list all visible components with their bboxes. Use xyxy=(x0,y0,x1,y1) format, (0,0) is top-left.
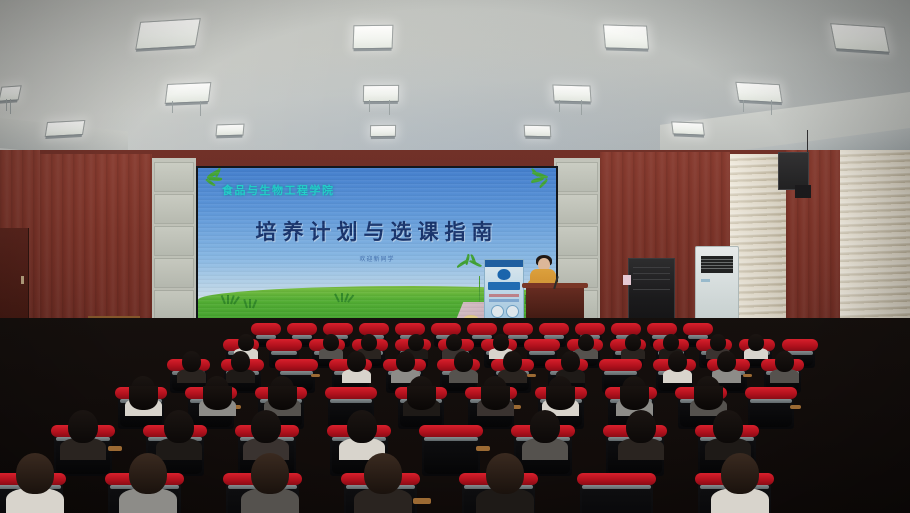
audience-member-head xyxy=(231,351,250,372)
audience-member-head xyxy=(454,351,473,372)
light-suspension-rod xyxy=(172,101,173,113)
audience-member-head xyxy=(361,334,377,351)
ceiling-light-panel xyxy=(524,125,552,137)
ac-vent xyxy=(701,256,733,273)
seat-writing-tablet xyxy=(311,374,320,377)
audience-member-hair xyxy=(546,386,575,410)
audience-member-head xyxy=(748,334,764,351)
banner-header xyxy=(485,260,523,267)
audience-member-head xyxy=(626,410,656,443)
ceiling-light-panel xyxy=(370,125,396,137)
roll-up-banner xyxy=(484,259,524,323)
audience-member-head xyxy=(347,351,366,372)
audience-member-head xyxy=(775,351,794,372)
seat-writing-tablet xyxy=(108,446,122,451)
audience-member-head xyxy=(68,410,98,443)
audience-member-hair xyxy=(620,386,649,410)
audience-member-head xyxy=(408,334,424,351)
audience-member-head xyxy=(251,453,289,494)
audience-member-hair xyxy=(481,386,510,410)
ceiling-light-panel xyxy=(215,124,244,137)
audience-member-hair xyxy=(203,386,232,410)
wall-speaker-mount xyxy=(795,185,811,198)
ac-display xyxy=(701,279,710,282)
light-suspension-rod xyxy=(6,99,7,111)
banner-logo-icon xyxy=(498,269,511,280)
seat-writing-tablet xyxy=(476,446,490,451)
ceiling-light-panel xyxy=(603,24,649,49)
side-door[interactable] xyxy=(0,228,29,326)
ceiling-light-panel xyxy=(45,120,86,137)
audience-seating xyxy=(0,318,910,513)
ceiling-light-panel xyxy=(353,25,394,49)
audience-member-hair xyxy=(407,386,436,410)
audience-member-head xyxy=(578,334,594,351)
audience-member-hair xyxy=(129,386,158,410)
light-suspension-rod xyxy=(743,100,744,112)
light-suspension-rod xyxy=(369,100,370,112)
audience-member-head xyxy=(251,410,281,443)
audience-member-head xyxy=(129,453,167,494)
audience-member-head xyxy=(323,334,339,351)
ceiling-light-panel xyxy=(671,121,705,135)
audience-member-head xyxy=(16,453,54,494)
audience-member-head xyxy=(347,410,377,443)
light-suspension-rod xyxy=(581,100,582,115)
light-suspension-rod xyxy=(771,100,772,115)
audience-member-head xyxy=(182,351,201,372)
lecture-hall-photo: 食品与生物工程学院 培养计划与选课指南 欢迎新同学 xyxy=(0,0,910,513)
seat-writing-tablet xyxy=(413,498,431,504)
ceiling-light-panel xyxy=(135,18,201,50)
light-suspension-rod xyxy=(200,101,201,116)
audience-member-head xyxy=(364,453,402,494)
audience-member-head xyxy=(713,410,743,443)
audience-member-head xyxy=(663,334,679,351)
audience-member-head xyxy=(668,351,687,372)
audience-member-head xyxy=(721,453,759,494)
audience-member-hair xyxy=(268,386,297,410)
audience-member-head xyxy=(503,351,522,372)
audience-member-head xyxy=(446,334,462,351)
banner-title-bar xyxy=(488,282,520,290)
audience-member-head xyxy=(561,351,580,372)
auditorium-seat[interactable] xyxy=(422,430,480,476)
cabinet-note xyxy=(623,275,631,285)
light-suspension-rod xyxy=(10,99,11,114)
seat-writing-tablet xyxy=(527,374,536,377)
auditorium-seat[interactable] xyxy=(580,478,653,513)
seat-writing-tablet xyxy=(790,405,801,409)
audience-member-head xyxy=(625,334,641,351)
audience-member-head xyxy=(396,351,415,372)
audience-member-head xyxy=(530,410,560,443)
audience-member-hair xyxy=(694,386,723,410)
light-suspension-rod xyxy=(389,100,390,115)
door-handle[interactable] xyxy=(21,276,24,284)
audience-member-head xyxy=(717,351,736,372)
audience-member-head xyxy=(493,334,509,351)
audience-member-head xyxy=(164,410,194,443)
audience-member-head xyxy=(486,453,524,494)
audience-member-head xyxy=(238,334,254,351)
ceiling-light-panel xyxy=(830,23,890,53)
auditorium-seat[interactable] xyxy=(748,392,794,429)
light-suspension-rod xyxy=(559,100,560,112)
seat-writing-tablet xyxy=(743,374,752,377)
audience-member-head xyxy=(710,334,726,351)
